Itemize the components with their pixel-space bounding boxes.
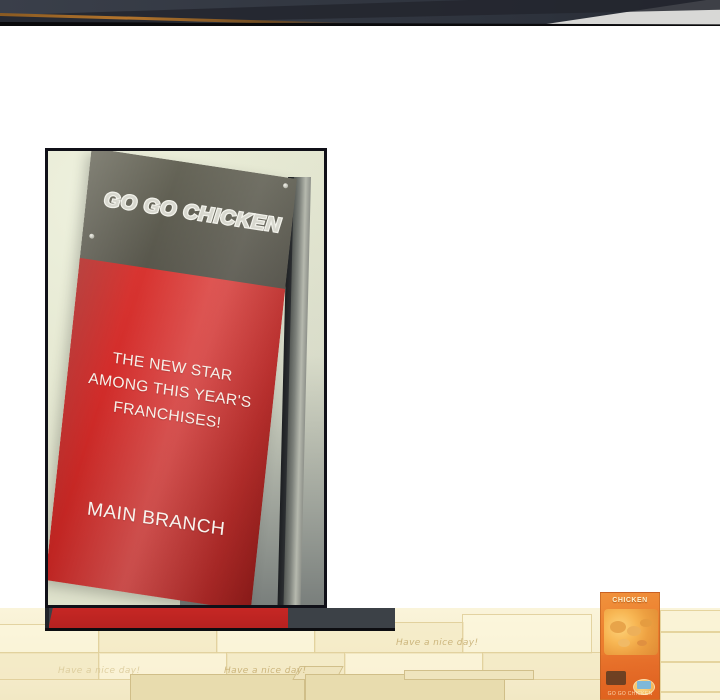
chicken-poster: CHICKEN GO GO CHICKEN	[600, 592, 660, 700]
tile-message: Have a nice day!	[224, 666, 307, 676]
wall-tile	[660, 692, 720, 700]
panel-bottom-border-line	[45, 628, 395, 631]
previous-panel-edge	[0, 0, 720, 26]
panel-gutter	[0, 26, 720, 148]
wall-tile	[660, 662, 720, 692]
banner-body-band	[45, 258, 285, 608]
poster-footer: GO GO CHICKEN	[601, 691, 659, 697]
poster-badge	[637, 681, 651, 689]
curb-top	[404, 670, 534, 680]
banner-panel: GO GO CHICKEN THE NEW STAR AMONG THIS YE…	[45, 148, 327, 608]
webtoon-page: GO GO CHICKEN THE NEW STAR AMONG THIS YE…	[0, 0, 720, 700]
banner-bottom-overflow	[48, 608, 288, 630]
poster-title: CHICKEN	[601, 597, 659, 604]
banner-left-edge	[45, 608, 49, 630]
fried-chicken-photo	[604, 609, 658, 655]
wall-tile	[660, 610, 720, 632]
curb-block	[130, 674, 305, 700]
wall-tile	[462, 614, 592, 654]
wall-tile	[660, 632, 720, 662]
tile-message: Have a nice day!	[396, 638, 479, 648]
tile-message: Have a nice day!	[58, 666, 141, 676]
chicken-box-icon	[606, 671, 626, 685]
